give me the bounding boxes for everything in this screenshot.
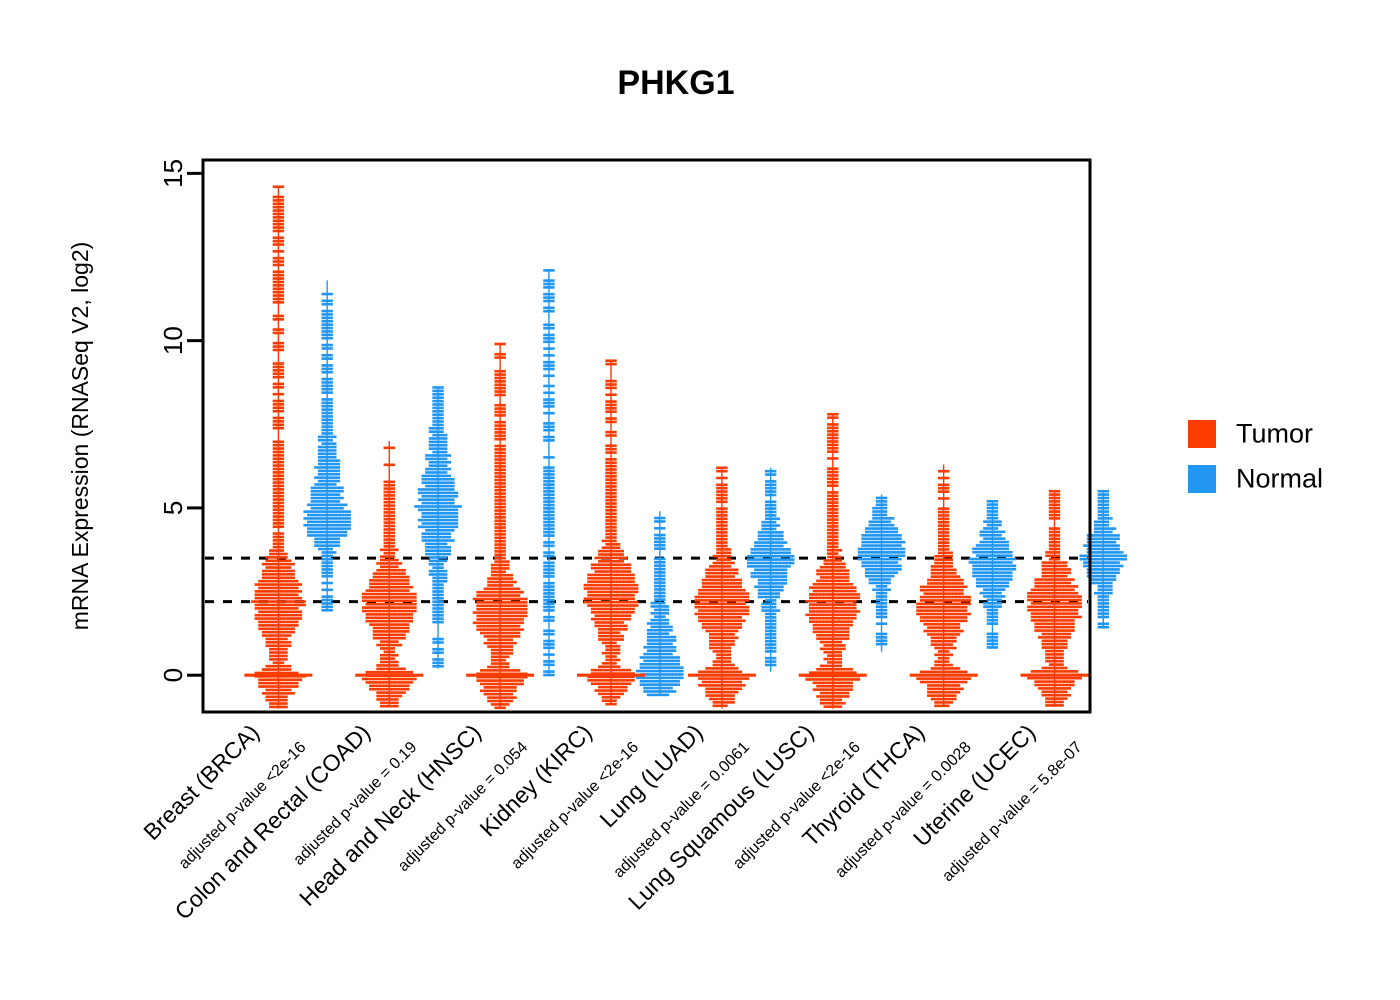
data-point [869, 527, 873, 530]
data-point [647, 673, 651, 676]
data-point [669, 680, 673, 683]
data-point [440, 638, 444, 641]
data-point [498, 679, 502, 682]
data-point [769, 592, 773, 595]
data-point [627, 580, 631, 583]
data-point [672, 690, 676, 693]
data-point [307, 527, 311, 530]
data-point [845, 573, 849, 576]
data-point [265, 682, 269, 685]
data-point [436, 451, 440, 454]
data-point [280, 488, 284, 491]
data-point [491, 574, 495, 577]
data-point [605, 580, 609, 583]
data-point [429, 481, 433, 484]
data-point [325, 599, 329, 602]
data-point [402, 627, 406, 630]
data-point [280, 315, 284, 318]
data-point [422, 526, 426, 529]
data-point [273, 423, 277, 426]
data-point [265, 685, 269, 688]
data-point [698, 589, 702, 592]
data-point [273, 505, 277, 508]
data-point [723, 660, 727, 663]
data-point [643, 646, 647, 649]
data-point [280, 216, 284, 219]
data-point [432, 566, 436, 569]
data-point [376, 579, 380, 582]
data-point [640, 670, 644, 673]
data-point [765, 609, 769, 612]
data-point [609, 587, 613, 590]
data-point [387, 661, 391, 664]
data-point [665, 619, 669, 622]
data-point [336, 470, 340, 473]
data-point [623, 625, 627, 628]
data-point [494, 656, 498, 659]
data-point [509, 639, 513, 642]
data-point [723, 701, 727, 704]
data-point [834, 447, 838, 450]
data-point [769, 623, 773, 626]
data-point [325, 317, 329, 320]
data-point [769, 647, 773, 650]
data-point [432, 386, 436, 389]
data-point [547, 599, 551, 602]
data-point [547, 528, 551, 531]
data-point [654, 694, 658, 697]
data-point [834, 546, 838, 549]
data-point [605, 550, 609, 553]
figure-root: PHKG1 mRNA Expression (RNASeq V2, log2) … [0, 0, 1400, 1000]
data-point [738, 592, 742, 595]
data-point [494, 465, 498, 468]
data-point [751, 555, 755, 558]
data-point [425, 505, 429, 508]
data-point [816, 573, 820, 576]
data-point [613, 648, 617, 651]
data-point [298, 617, 302, 620]
data-point [284, 600, 288, 603]
data-point [398, 576, 402, 579]
data-point [505, 605, 509, 608]
data-point [658, 636, 662, 639]
data-point [772, 596, 776, 599]
data-point [605, 543, 609, 546]
data-point [543, 545, 547, 548]
data-point [332, 442, 336, 445]
data-point [443, 492, 447, 495]
data-point [716, 636, 720, 639]
data-point [616, 580, 620, 583]
data-point [336, 544, 340, 547]
data-point [613, 465, 617, 468]
data-point [294, 597, 298, 600]
data-point [436, 512, 440, 515]
data-point [276, 400, 280, 403]
data-point [502, 560, 506, 563]
data-point [436, 502, 440, 505]
data-point [325, 442, 329, 445]
data-point [761, 548, 765, 551]
data-point [394, 549, 398, 552]
data-point [713, 694, 717, 697]
data-point [502, 431, 506, 434]
data-point [883, 497, 887, 500]
data-point [391, 515, 395, 518]
data-point [505, 645, 509, 648]
data-point [402, 589, 406, 592]
data-point [284, 610, 288, 613]
data-point [602, 597, 606, 600]
data-point [440, 515, 444, 518]
data-point [412, 596, 416, 599]
data-point [402, 671, 406, 674]
data-point [613, 614, 617, 617]
data-point [380, 566, 384, 569]
data-point [509, 622, 513, 625]
data-point [269, 668, 273, 671]
data-point [387, 566, 391, 569]
data-point [765, 575, 769, 578]
data-point [273, 699, 277, 702]
data-point [269, 638, 273, 641]
data-point [598, 679, 602, 682]
data-point [772, 640, 776, 643]
data-point [487, 632, 491, 635]
data-point [280, 522, 284, 525]
data-point [380, 596, 384, 599]
data-point [734, 585, 738, 588]
data-point [887, 531, 891, 534]
data-point [720, 640, 724, 643]
data-point [661, 653, 665, 656]
data-point [831, 569, 835, 572]
data-point [613, 489, 617, 492]
data-point [598, 553, 602, 556]
data-point [887, 578, 891, 581]
data-point [845, 586, 849, 589]
data-point [314, 507, 318, 510]
data-point [321, 419, 325, 422]
data-point [698, 684, 702, 687]
data-point [813, 586, 817, 589]
data-point [287, 576, 291, 579]
data-point [276, 566, 280, 569]
data-point [436, 400, 440, 403]
data-point [287, 580, 291, 583]
data-point [273, 410, 277, 413]
data-point [273, 485, 277, 488]
data-point [284, 566, 288, 569]
data-point [613, 604, 617, 607]
data-point [412, 603, 416, 606]
data-point [647, 622, 651, 625]
data-point [498, 642, 502, 645]
data-point [872, 578, 876, 581]
data-point [436, 607, 440, 610]
data-point [394, 637, 398, 640]
data-point [543, 524, 547, 527]
data-point [432, 495, 436, 498]
data-point [650, 646, 654, 649]
data-point [634, 604, 638, 607]
data-point [280, 508, 284, 511]
data-point [879, 510, 883, 513]
data-point [314, 493, 318, 496]
data-point [491, 690, 495, 693]
data-point [654, 534, 658, 537]
data-point [498, 635, 502, 638]
data-point [676, 660, 680, 663]
data-point [447, 532, 451, 535]
data-point [720, 470, 724, 473]
data-point [387, 583, 391, 586]
data-point [269, 641, 273, 644]
data-point [432, 553, 436, 556]
data-point [484, 642, 488, 645]
data-point [502, 601, 506, 604]
data-point [734, 579, 738, 582]
data-point [547, 283, 551, 286]
data-point [672, 683, 676, 686]
data-point [380, 610, 384, 613]
data-point [543, 582, 547, 585]
data-point [613, 679, 617, 682]
data-point [325, 470, 329, 473]
data-point [440, 475, 444, 478]
data-point [654, 581, 658, 584]
data-point [661, 683, 665, 686]
data-point [627, 594, 631, 597]
data-point [842, 580, 846, 583]
data-point [494, 543, 498, 546]
data-point [765, 579, 769, 582]
data-point [487, 611, 491, 614]
data-point [405, 617, 409, 620]
data-point [890, 551, 894, 554]
data-point [772, 589, 776, 592]
data-point [287, 665, 291, 668]
data-point [720, 538, 724, 541]
data-point [280, 542, 284, 545]
data-point [890, 524, 894, 527]
data-point [394, 681, 398, 684]
data-point [661, 571, 665, 574]
data-point [487, 666, 491, 669]
data-point [543, 572, 547, 575]
data-point [443, 485, 447, 488]
data-point [772, 538, 776, 541]
data-point [343, 521, 347, 524]
data-point [661, 636, 665, 639]
data-point [332, 521, 336, 524]
data-point [616, 543, 620, 546]
data-point [321, 388, 325, 391]
data-point [366, 600, 370, 603]
data-point [705, 572, 709, 575]
data-point [402, 593, 406, 596]
data-point [623, 597, 627, 600]
data-point [273, 417, 277, 420]
data-point [494, 428, 498, 431]
data-point [713, 565, 717, 568]
data-point [321, 323, 325, 326]
data-point [484, 594, 488, 597]
data-point [298, 604, 302, 607]
data-point [502, 540, 506, 543]
data-point [429, 427, 433, 430]
data-point [443, 532, 447, 535]
data-point [273, 610, 277, 613]
data-point [402, 610, 406, 613]
data-point [484, 598, 488, 601]
data-point [347, 521, 351, 524]
data-point [332, 446, 336, 449]
data-point [307, 510, 311, 513]
beeswarm-chart: PHKG1 mRNA Expression (RNASeq V2, log2) … [0, 0, 1400, 1000]
data-point [769, 562, 773, 565]
data-point [454, 495, 458, 498]
data-point [325, 558, 329, 561]
data-point [318, 521, 322, 524]
data-point [716, 555, 720, 558]
data-point [394, 623, 398, 626]
data-point [669, 673, 673, 676]
data-point [498, 431, 502, 434]
data-point [738, 589, 742, 592]
data-point [709, 606, 713, 609]
data-point [661, 520, 665, 523]
data-point [709, 565, 713, 568]
data-point [387, 634, 391, 637]
data-point [387, 681, 391, 684]
data-point [898, 534, 902, 537]
data-point [273, 315, 277, 318]
data-point [605, 577, 609, 580]
data-point [476, 625, 480, 628]
data-point [273, 274, 277, 277]
data-point [380, 647, 384, 650]
data-point [494, 540, 498, 543]
data-point [842, 593, 846, 596]
data-point [276, 199, 280, 202]
data-point [613, 506, 617, 509]
data-point [294, 678, 298, 681]
data-point [273, 488, 277, 491]
data-point [502, 516, 506, 519]
data-point [723, 643, 727, 646]
data-point [616, 621, 620, 624]
data-point [432, 570, 436, 573]
data-point [505, 594, 509, 597]
data-point [623, 604, 627, 607]
data-point [698, 619, 702, 622]
data-point [827, 491, 831, 494]
data-point [498, 659, 502, 662]
data-point [834, 450, 838, 453]
data-point [769, 521, 773, 524]
data-point [550, 477, 554, 480]
data-point [613, 601, 617, 604]
data-point [702, 596, 706, 599]
data-point [332, 551, 336, 554]
data-point [325, 422, 329, 425]
data-point [291, 583, 295, 586]
data-point [613, 689, 617, 692]
data-point [702, 681, 706, 684]
data-point [790, 555, 794, 558]
data-point [616, 557, 620, 560]
data-point [418, 492, 422, 495]
data-point [269, 580, 273, 583]
data-point [373, 589, 377, 592]
data-point [727, 664, 731, 667]
data-point [443, 536, 447, 539]
data-point [543, 398, 547, 401]
data-point [727, 599, 731, 602]
data-point [827, 440, 831, 443]
data-point [620, 557, 624, 560]
data-point [325, 514, 329, 517]
data-point [321, 500, 325, 503]
data-point [609, 574, 613, 577]
data-point [502, 377, 506, 380]
data-point [502, 520, 506, 523]
data-point [307, 504, 311, 507]
data-point [761, 592, 765, 595]
data-point [716, 596, 720, 599]
data-point [658, 558, 662, 561]
data-point [591, 618, 595, 621]
data-point [343, 514, 347, 517]
data-point [276, 607, 280, 610]
data-point [887, 527, 891, 530]
data-point [734, 589, 738, 592]
data-point [705, 575, 709, 578]
data-point [602, 577, 606, 580]
data-point [318, 466, 322, 469]
data-point [709, 572, 713, 575]
data-point [311, 531, 315, 534]
data-point [336, 487, 340, 490]
data-point [713, 636, 717, 639]
data-point [523, 615, 527, 618]
data-point [280, 240, 284, 243]
data-point [269, 689, 273, 692]
data-point [432, 651, 436, 654]
data-point [284, 590, 288, 593]
data-point [321, 589, 325, 592]
data-point [447, 539, 451, 542]
data-point [665, 663, 669, 666]
data-point [387, 657, 391, 660]
data-point [758, 592, 762, 595]
data-point [443, 468, 447, 471]
data-point [838, 556, 842, 559]
data-point [280, 491, 284, 494]
data-point [547, 602, 551, 605]
data-point [384, 678, 388, 681]
data-point [613, 584, 617, 587]
data-point [373, 627, 377, 630]
data-point [284, 702, 288, 705]
data-point [591, 682, 595, 685]
data-point [321, 524, 325, 527]
data-point [409, 596, 413, 599]
data-point [432, 594, 436, 597]
data-point [384, 552, 388, 555]
